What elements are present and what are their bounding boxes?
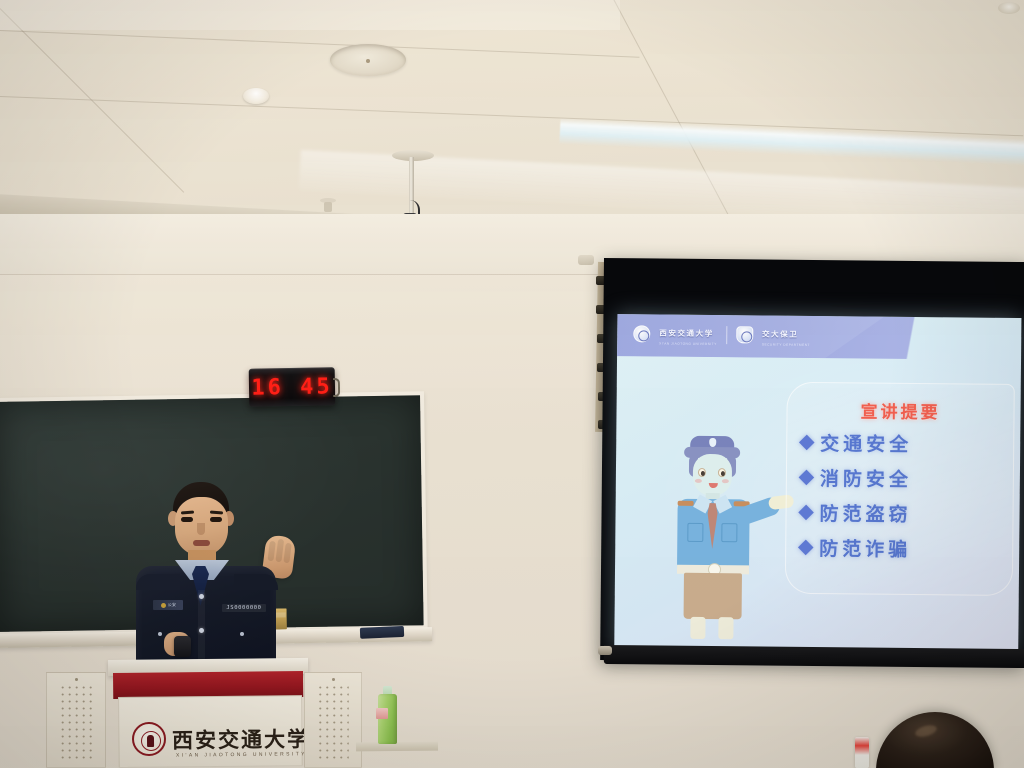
slide-bullet-item: 防范盗窃 <box>800 499 1002 528</box>
bottle-label <box>376 708 388 719</box>
lecture-hall-photo: 16 45 西安交通大学 XI'AN JIAOTONG UNIVERSITY 交… <box>0 0 1024 768</box>
recessed-downlight-icon <box>243 88 269 104</box>
presenter-mouth <box>193 540 210 546</box>
uniform-button <box>199 628 204 633</box>
cartoon-police-officer-illustration <box>666 435 788 641</box>
wall-shelf <box>356 742 438 752</box>
uniform-badge-patch: 公安 <box>153 600 183 610</box>
uniform-button <box>199 594 204 599</box>
bullet-label: 交通安全 <box>820 429 912 457</box>
fluorescent-light-strip <box>559 118 1024 166</box>
presenter-shoulder-left <box>136 574 180 590</box>
security-dept-name-en: SECURITY DEPARTMENT <box>762 343 810 347</box>
slide-bullet-item: 防范诈骗 <box>800 534 1002 563</box>
uniform-button <box>158 632 162 636</box>
wall-speaker-panel-left <box>46 672 106 768</box>
slide-logo-row: 西安交通大学 XI'AN JIAOTONG UNIVERSITY 交大保卫 SE… <box>633 322 810 347</box>
desk-object <box>855 737 869 768</box>
bullet-label: 消防安全 <box>820 464 912 492</box>
diamond-bullet-icon <box>799 435 815 451</box>
podium-university-name: 西安交通大学 <box>172 723 310 754</box>
diamond-bullet-icon <box>798 505 814 521</box>
ceiling-seam <box>0 96 1023 136</box>
security-dept-name: 交大保卫 <box>762 330 798 339</box>
uniform-badge-number: JS0000000 <box>222 604 266 612</box>
speaker-grille <box>59 684 93 759</box>
security-shield-icon <box>736 326 753 343</box>
presenter-eye <box>210 517 222 522</box>
wall-sensor-icon <box>578 255 594 265</box>
slide-bullet-item: 消防安全 <box>801 464 1003 493</box>
uniform-button <box>240 632 244 636</box>
board-eraser <box>360 626 404 639</box>
slide-bullet-item: 交通安全 <box>801 429 1003 458</box>
ceiling-speaker-icon <box>330 44 406 76</box>
university-name: 西安交通大学 <box>659 329 714 339</box>
university-name-en: XI'AN JIAOTONG UNIVERSITY <box>659 342 717 347</box>
presenter-shoulder-right <box>234 574 278 590</box>
ceiling-panel <box>0 0 620 30</box>
clock-mount-bracket <box>333 378 340 397</box>
diamond-bullet-icon <box>798 540 814 556</box>
slide-content-card: 宣讲提要 交通安全 消防安全 防范盗窃 <box>785 382 1015 596</box>
digital-wall-clock: 16 45 <box>249 367 336 406</box>
presenter-nose <box>197 523 205 535</box>
presenter-police-officer: 公安 JS0000000 <box>118 482 304 678</box>
badge-label: 公安 <box>168 602 177 608</box>
fire-sprinkler-icon <box>998 2 1020 14</box>
hand-sanitizer-bottle <box>378 694 397 744</box>
bullet-label: 防范盗窃 <box>819 499 911 527</box>
presentation-clicker[interactable] <box>174 636 191 657</box>
speaker-grille <box>317 684 349 759</box>
university-emblem-icon <box>633 325 650 342</box>
bullet-label: 防范诈骗 <box>819 534 911 562</box>
presenter-eye <box>181 517 193 522</box>
university-emblem-icon <box>132 722 166 756</box>
presentation-slide: 西安交通大学 XI'AN JIAOTONG UNIVERSITY 交大保卫 SE… <box>614 314 1021 654</box>
wall-speaker-panel-right <box>304 672 362 768</box>
screen-roller-end-cap <box>598 646 612 655</box>
logo-divider <box>726 326 727 344</box>
diamond-bullet-icon <box>799 470 815 486</box>
slide-bullet-list: 交通安全 消防安全 防范盗窃 防范诈骗 <box>800 429 1003 571</box>
slide-title: 宣讲提要 <box>787 397 1013 424</box>
projection-screen-bottom-bar <box>604 645 1024 668</box>
projection-screen: 西安交通大学 XI'AN JIAOTONG UNIVERSITY 交大保卫 SE… <box>600 258 1024 664</box>
clock-time-display: 16 45 <box>251 374 333 400</box>
ceiling-seam <box>0 30 639 58</box>
